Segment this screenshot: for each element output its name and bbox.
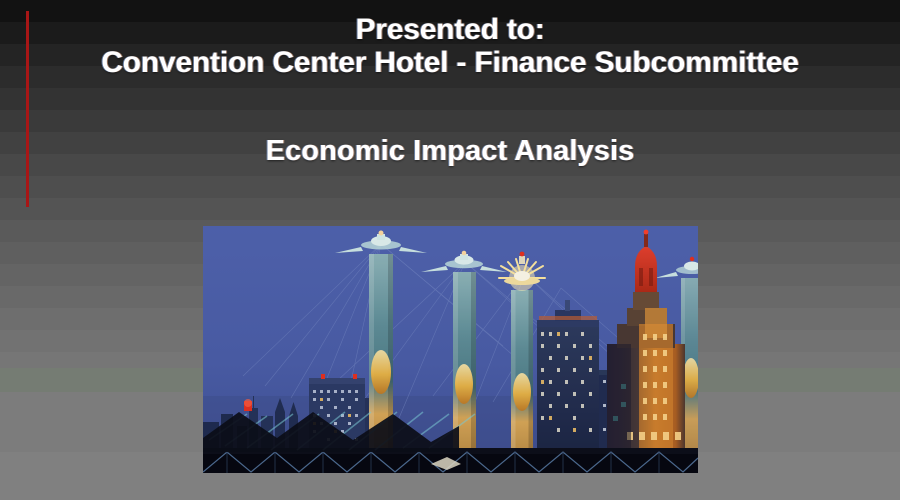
title-line-presented-to: Presented to: <box>0 14 900 45</box>
subtitle-economic-impact-analysis: Economic Impact Analysis <box>0 136 900 168</box>
title-line-audience: Convention Center Hotel - Finance Subcom… <box>0 47 900 78</box>
skyline-photo <box>203 226 698 473</box>
presentation-slide: Presented to: Convention Center Hotel - … <box>0 0 900 500</box>
title-block: Presented to: Convention Center Hotel - … <box>0 0 900 78</box>
subtitle-block: Economic Impact Analysis <box>0 136 900 168</box>
skyline-photo-artwork <box>203 226 698 473</box>
